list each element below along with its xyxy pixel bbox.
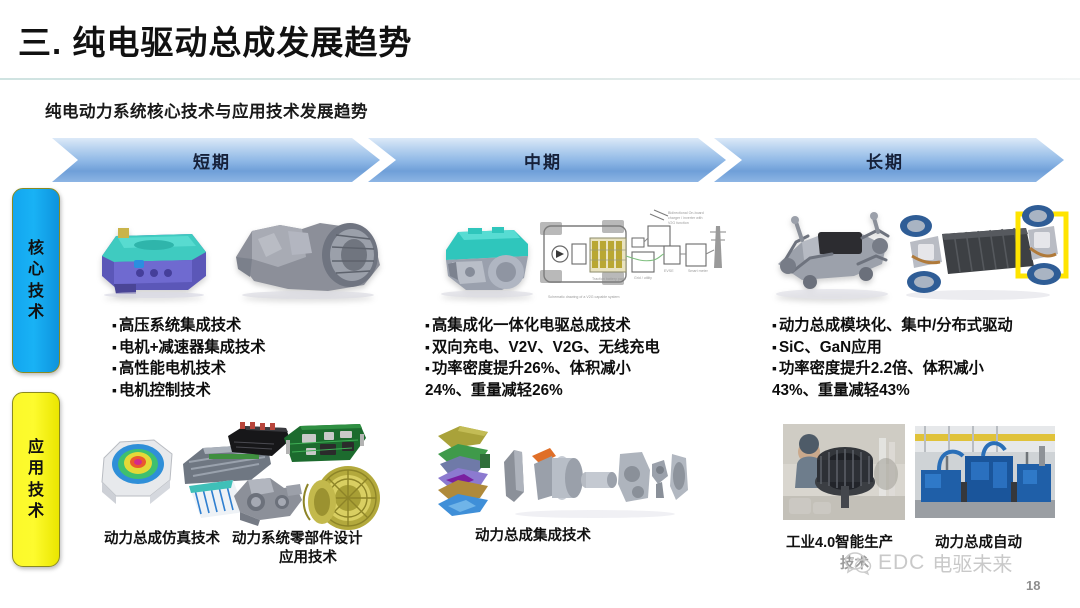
timeline-phase-short-label: 短期: [193, 148, 231, 173]
core-long-bullets: 动力总成模块化、集中/分布式驱动 SiC、GaN应用 功率密度提升2.2倍、体积…: [772, 315, 1013, 402]
exploded-housing-stack: [430, 420, 498, 520]
core-long-bullet-2: 功率密度提升2.2倍、体积减小: [772, 358, 1013, 380]
v2g-schematic-diagram: Bidirectional On-board charger / inverte…: [528, 202, 728, 307]
timeline-phase-long-label: 长期: [866, 148, 904, 173]
row-label-app-char-2: 技: [28, 480, 44, 501]
slide-root: 三. 纯电驱动总成发展趋势 纯电动力系统核心技术与应用技术发展趋势 短期 中期 …: [0, 0, 1080, 608]
app-mid-caption-0: 动力总成集成技术: [475, 524, 591, 545]
row-label-core-char-1: 心: [28, 259, 44, 280]
svg-text:charger / inverter with: charger / inverter with: [668, 216, 703, 220]
title-divider: [0, 78, 1080, 80]
watermark: EDC 电驱未来: [845, 548, 1012, 577]
row-label-app-char-1: 用: [28, 458, 44, 479]
timeline-phase-short[interactable]: 短期: [52, 138, 380, 182]
app-short-caption-2: 应用技术: [279, 546, 337, 567]
watermark-brand: EDC: [878, 551, 925, 575]
row-label-core-char-2: 技: [28, 281, 44, 302]
row-label-core-tech: 核 心 技 术: [12, 188, 60, 373]
core-mid-bullets: 高集成化一体化电驱总成技术 双向充电、V2V、V2G、无线充电 功率密度提升26…: [425, 315, 660, 402]
core-short-bullet-1: 电机+减速器集成技术: [112, 337, 266, 359]
timeline-phase-mid[interactable]: 中期: [368, 138, 726, 182]
winding-render: [300, 462, 386, 532]
core-mid-bullet-1: 双向充电、V2V、V2G、无线充电: [425, 337, 660, 359]
svg-text:Traction battery pack: Traction battery pack: [592, 277, 626, 281]
gearbox-render: [228, 205, 390, 300]
chassis-module-render: [762, 202, 902, 302]
app-short-caption-0: 动力总成仿真技术: [104, 527, 220, 548]
core-mid-bullet-2-continuation: 24%、重量减轻26%: [425, 380, 660, 402]
core-mid-bullet-0: 高集成化一体化电驱总成技术: [425, 315, 660, 337]
core-short-bullet-3: 电机控制技术: [112, 380, 266, 402]
svg-text:V2G function: V2G function: [668, 221, 689, 225]
core-long-bullet-1: SiC、GaN应用: [772, 337, 1013, 359]
row-label-core-char-3: 术: [28, 302, 44, 323]
row-label-app-char-0: 应: [28, 437, 44, 458]
svg-text:EVSE: EVSE: [664, 269, 674, 273]
transmission-part: [226, 470, 306, 528]
page-title: 三. 纯电驱动总成发展趋势: [18, 16, 412, 64]
core-long-bullet-0: 动力总成模块化、集中/分布式驱动: [772, 315, 1013, 337]
core-short-bullet-0: 高压系统集成技术: [112, 315, 266, 337]
blue-industrial-machine-photo: [915, 426, 1055, 518]
svg-text:Grid / utility: Grid / utility: [634, 276, 652, 280]
cae-thermal-map: [92, 428, 184, 508]
core-short-bullet-2: 高性能电机技术: [112, 358, 266, 380]
svg-text:Smart meter: Smart meter: [688, 269, 709, 273]
timeline-phase-mid-label: 中期: [524, 148, 562, 173]
integrated-edrive-render: [432, 216, 542, 298]
motor-controller-render: [88, 212, 213, 297]
timeline-banner: 短期 中期 长期: [52, 138, 1064, 182]
worker-gear-assembly-photo: [783, 424, 905, 520]
edrive-exploded-assembly: [500, 440, 690, 518]
wechat-icon: [845, 552, 871, 574]
core-mid-bullet-2: 功率密度提升26%、体积减小: [425, 358, 660, 380]
core-short-bullets: 高压系统集成技术 电机+减速器集成技术 高性能电机技术 电机控制技术: [112, 315, 266, 402]
core-long-bullet-2-continuation: 43%、重量减轻43%: [772, 380, 1013, 402]
row-label-core-char-0: 核: [28, 238, 44, 259]
timeline-phase-long[interactable]: 长期: [714, 138, 1064, 182]
svg-text:Schematic drawing of a V2G cap: Schematic drawing of a V2G capable syste…: [548, 295, 620, 299]
row-label-app-tech: 应 用 技 术: [12, 392, 60, 567]
app-short-caption-1: 动力系统零部件设计: [232, 527, 363, 548]
svg-text:Bidirectional On-board: Bidirectional On-board: [668, 211, 704, 215]
slide-subtitle: 纯电动力系统核心技术与应用技术发展趋势: [45, 98, 368, 122]
watermark-brand-cn: 电驱未来: [932, 548, 1012, 577]
row-label-app-char-3: 术: [28, 501, 44, 522]
page-number: 18: [1026, 578, 1040, 593]
skateboard-platform-render: [888, 200, 1068, 302]
